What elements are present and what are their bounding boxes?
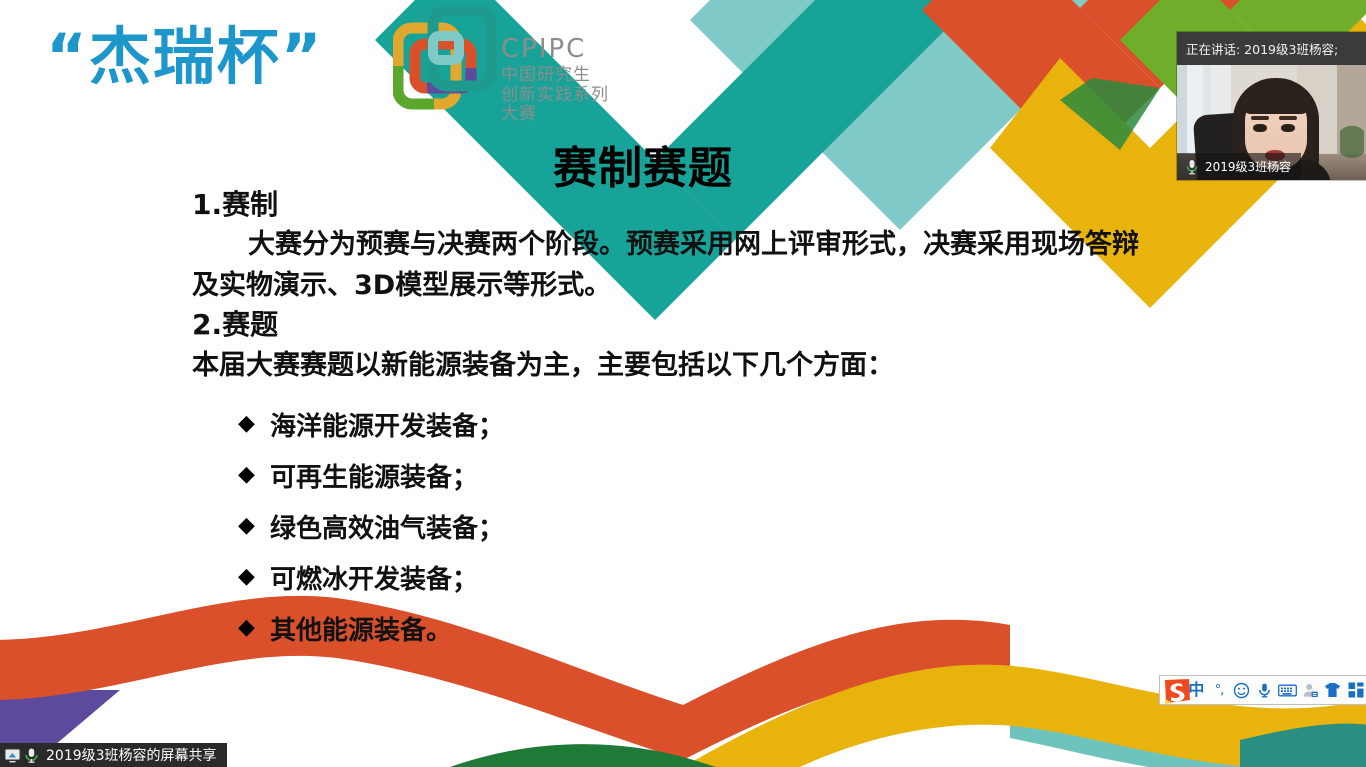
sogou-ime-toolbar[interactable]: 中 °,: [1159, 675, 1366, 705]
screen-share-badge[interactable]: 2019级3班杨容的屏幕共享: [0, 743, 227, 767]
list-item: ◆ 可再生能源装备；: [238, 450, 1202, 501]
eye-left: [1253, 124, 1267, 132]
ribbon-dark-teal-bottom: [1240, 724, 1366, 767]
cpipc-latin-text: CPIPC: [501, 36, 625, 62]
section2-intro: 本届大赛赛题以新能源装备为主，主要包括以下几个方面：: [192, 347, 1202, 385]
participant-nameplate: 2019级3班杨容: [1177, 153, 1301, 180]
screen: “杰瑞杯” CPIPC 中国研究生 创新实践系列大赛 赛制赛题 1: [0, 0, 1366, 767]
ribbon-light-teal-top-2: [900, 0, 1190, 150]
video-plant: [1340, 118, 1364, 158]
shared-slide: “杰瑞杯” CPIPC 中国研究生 创新实践系列大赛 赛制赛题 1: [0, 0, 1366, 767]
list-item: ◆ 其他能源装备。: [238, 603, 1202, 654]
soft-keyboard-icon[interactable]: [1277, 679, 1298, 701]
cpipc-logo: CPIPC 中国研究生 创新实践系列大赛: [393, 6, 625, 124]
screen-share-icon: [4, 747, 21, 764]
list-item-label: 绿色高效油气装备；: [270, 508, 504, 545]
bangs-shape: [1241, 84, 1311, 114]
list-item-label: 海洋能源开发装备；: [270, 406, 504, 443]
eyebrow-right: [1279, 116, 1297, 120]
cpipc-wordmark: CPIPC 中国研究生 创新实践系列大赛: [501, 36, 625, 125]
list-item-label: 可再生能源装备；: [270, 457, 478, 494]
diamond-bullet-icon: ◆: [238, 464, 270, 486]
sogou-logo-icon[interactable]: [1164, 678, 1191, 704]
cup-title: “杰瑞杯”: [46, 24, 324, 89]
section1-paragraph-line2: 及实物演示、3D模型展示等形式。: [192, 265, 1202, 306]
list-item: ◆ 绿色高效油气装备；: [238, 501, 1202, 552]
eye-right: [1281, 124, 1295, 132]
speaking-now-label: 正在讲话: 2019级3班杨容;: [1177, 32, 1366, 65]
diamond-bullet-icon: ◆: [238, 515, 270, 537]
video-feed[interactable]: 2019级3班杨容: [1177, 65, 1366, 180]
cpipc-cn-line2: 创新实践系列大赛: [501, 86, 625, 125]
list-item-label: 其他能源装备。: [270, 610, 452, 647]
section2-heading: 2.赛题: [192, 306, 1202, 344]
list-item: ◆ 可燃冰开发装备；: [238, 552, 1202, 603]
microphone-icon: [23, 747, 40, 764]
skin-center-icon[interactable]: [1323, 679, 1344, 701]
voice-input-icon[interactable]: [1254, 679, 1275, 701]
toolbox-grid-icon[interactable]: [1345, 679, 1366, 701]
screen-share-label: 2019级3班杨容的屏幕共享: [46, 745, 217, 765]
user-center-icon[interactable]: [1300, 679, 1321, 701]
list-item: ◆ 海洋能源开发装备；: [238, 399, 1202, 450]
eyebrow-left: [1251, 116, 1269, 120]
participant-name: 2019级3班杨容: [1205, 158, 1291, 175]
bullet-list: ◆ 海洋能源开发装备； ◆ 可再生能源装备； ◆ 绿色高效油气装备； ◆ 可燃冰…: [238, 399, 1202, 654]
slide-body: 1.赛制 大赛分为预赛与决赛两个阶段。预赛采用网上评审形式，决赛采用现场答辩 及…: [192, 186, 1202, 654]
microphone-icon: [1185, 159, 1199, 175]
punctuation-mode-button[interactable]: °,: [1209, 679, 1230, 701]
diamond-bullet-icon: ◆: [238, 566, 270, 588]
emoji-input-icon[interactable]: [1232, 679, 1253, 701]
section1-heading: 1.赛制: [192, 186, 1202, 224]
cpipc-logo-mark: [393, 6, 497, 118]
diamond-bullet-icon: ◆: [238, 413, 270, 435]
diamond-bullet-icon: ◆: [238, 617, 270, 639]
participant-video-panel[interactable]: 正在讲话: 2019级3班杨容;: [1177, 32, 1366, 180]
list-item-label: 可燃冰开发装备；: [270, 559, 478, 596]
ribbon-green-bottom: [380, 744, 1000, 767]
cpipc-cn-line1: 中国研究生: [501, 66, 625, 86]
section1-paragraph-line1: 大赛分为预赛与决赛两个阶段。预赛采用网上评审形式，决赛采用现场答辩: [192, 224, 1202, 265]
